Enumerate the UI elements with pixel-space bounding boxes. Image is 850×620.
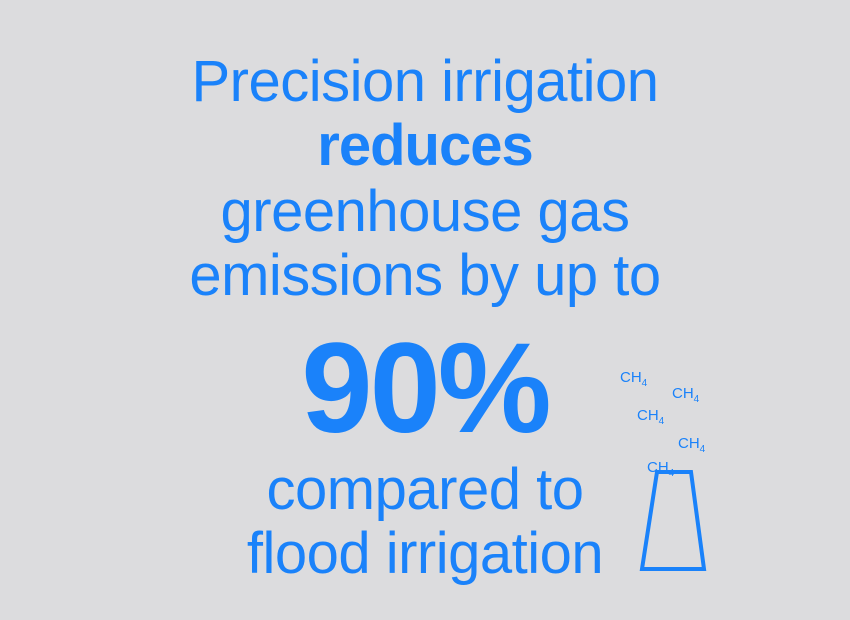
smokestack-icon xyxy=(636,468,716,578)
ch4-subscript: 4 xyxy=(700,444,706,455)
headline-line-2-emphasis: reduces xyxy=(0,114,850,178)
ch4-molecule-label: CH4 xyxy=(672,386,699,405)
infographic-canvas: Precision irrigation reduces greenhouse … xyxy=(0,0,850,620)
headline-line-4: emissions by up to xyxy=(0,244,850,308)
ch4-subscript: 4 xyxy=(694,394,700,405)
ch4-subscript: 4 xyxy=(642,378,648,389)
ch4-subscript: 4 xyxy=(659,416,665,427)
headline-line-1: Precision irrigation xyxy=(0,50,850,114)
ch4-molecule-label: CH4 xyxy=(620,370,647,389)
methane-emissions-group: CH4 CH4 CH4 CH4 CH4 xyxy=(600,355,740,590)
ch4-molecule-label: CH4 xyxy=(678,436,705,455)
ch4-molecule-label: CH4 xyxy=(637,408,664,427)
headline-line-3: greenhouse gas xyxy=(0,180,850,244)
ch4-formula: CH xyxy=(672,385,694,402)
ch4-formula: CH xyxy=(678,435,700,452)
ch4-formula: CH xyxy=(637,407,659,424)
ch4-formula: CH xyxy=(620,369,642,386)
